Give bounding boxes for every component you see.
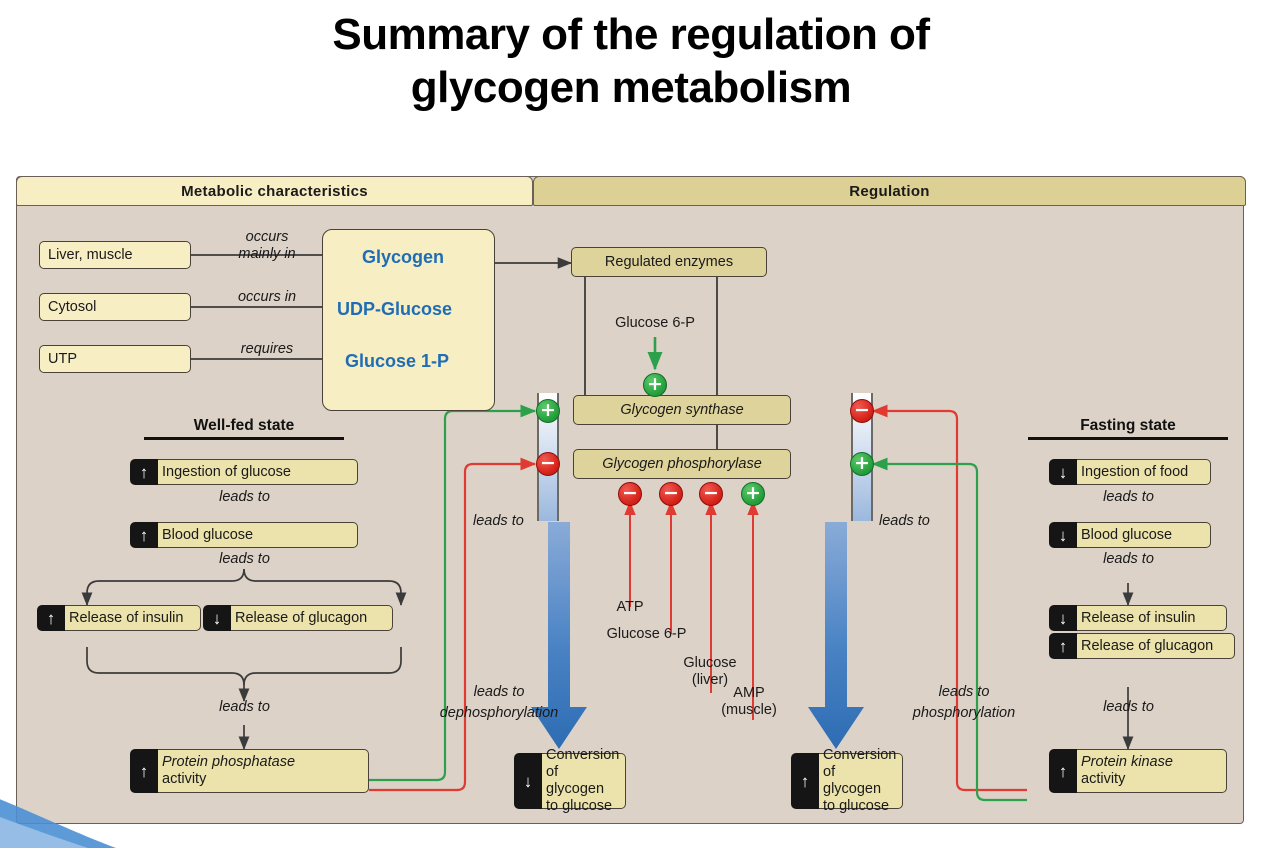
relation-label-requires: requires xyxy=(212,341,322,358)
well-fed-heading-label: Well-fed state xyxy=(194,417,295,434)
up-arrow-icon: ↑ xyxy=(130,522,158,548)
down-arrow-icon: ↓ xyxy=(1049,459,1077,485)
well-fed-final-line-2: activity xyxy=(162,771,362,788)
fasting-final-protein-kinase[interactable]: ↑ Protein kinase activity xyxy=(1049,749,1227,793)
chip-arrow-glyph: ↓ xyxy=(1059,610,1068,627)
enzyme-glycogen-synthase[interactable]: Glycogen synthase xyxy=(573,395,791,425)
regulated-enzymes-label: Regulated enzymes xyxy=(605,254,733,270)
cycle-node-glucose-1-p: Glucose 1-P xyxy=(345,351,449,372)
well-fed-branch-0-text: Release of insulin xyxy=(69,610,194,626)
well-fed-branch-release-of-insulin[interactable]: ↑ Release of insulin xyxy=(37,605,201,631)
fasting-heading-rule xyxy=(1028,437,1228,440)
well-fed-leads-to-1: leads to xyxy=(167,489,322,506)
outcome-box-right-conversion[interactable]: ↑ Conversion of glycogen to glucose xyxy=(791,753,903,809)
up-arrow-icon: ↑ xyxy=(37,605,65,631)
outcome-left-line-1: Conversion xyxy=(546,747,619,764)
badge-sign: + xyxy=(540,401,556,420)
down-arrow-icon: ↓ xyxy=(1049,522,1077,548)
allosteric-minus-badge-glucose-liver: − xyxy=(699,482,723,506)
allosteric-plus-badge-amp-muscle: + xyxy=(741,482,765,506)
fasting-state-heading: Fasting state xyxy=(1028,417,1228,440)
up-arrow-icon: ↑ xyxy=(1049,749,1077,793)
well-fed-heading-rule xyxy=(144,437,344,440)
fasting-pair-0-text: Release of insulin xyxy=(1081,610,1220,626)
tab-regulation[interactable]: Regulation xyxy=(533,176,1246,206)
relation-label-occurs-mainly-in: occurs mainly in xyxy=(212,229,322,263)
center-leads-to-right: leads to xyxy=(879,513,930,530)
up-arrow-icon: ↑ xyxy=(130,459,158,485)
fasting-pair-label: Release of insulin xyxy=(1074,605,1227,631)
down-arrow-icon: ↓ xyxy=(1049,605,1077,631)
up-arrow-icon: ↑ xyxy=(130,749,158,793)
outcome-right-line-2: of glycogen xyxy=(823,764,896,798)
badge-sign: + xyxy=(745,484,761,503)
metabolic-target-liver-muscle[interactable]: Liver, muscle xyxy=(39,241,191,269)
allosteric-minus-badge-glucose-6-p: − xyxy=(659,482,683,506)
fasting-final-text: Protein kinase activity xyxy=(1074,749,1227,793)
chip-arrow-glyph: ↓ xyxy=(1059,464,1068,481)
well-fed-branch-release-of-glucagon[interactable]: ↓ Release of glucagon xyxy=(203,605,393,631)
chip-arrow-glyph: ↑ xyxy=(140,527,149,544)
fasting-step-0-text: Ingestion of food xyxy=(1081,464,1204,480)
fasting-step-blood-glucose[interactable]: ↓ Blood glucose xyxy=(1049,522,1211,548)
outcome-right-line-3: to glucose xyxy=(823,798,896,815)
page-title: Summary of the regulation of glycogen me… xyxy=(0,8,1262,114)
down-arrow-icon: ↓ xyxy=(203,605,231,631)
tab-metabolic-label: Metabolic characteristics xyxy=(181,183,368,200)
chip-arrow-glyph: ↑ xyxy=(47,610,56,627)
metabolic-target-cytosol[interactable]: Cytosol xyxy=(39,293,191,321)
tab-metabolic-characteristics[interactable]: Metabolic characteristics xyxy=(16,176,533,206)
well-fed-branch-label: Release of insulin xyxy=(62,605,201,631)
well-fed-step-label: Blood glucose xyxy=(155,522,358,548)
well-fed-final-protein-phosphatase[interactable]: ↑ Protein phosphatase activity xyxy=(130,749,369,793)
metabolic-target-utp-label: UTP xyxy=(48,351,77,367)
allosteric-label-glucose-liver: Glucose(liver) xyxy=(650,655,770,689)
chip-arrow-glyph: ↑ xyxy=(140,763,149,780)
well-fed-step-1-text: Blood glucose xyxy=(162,527,351,543)
up-arrow-icon: ↑ xyxy=(1049,633,1077,659)
badge-sign: − xyxy=(622,484,638,503)
chip-arrow-glyph: ↓ xyxy=(213,610,222,627)
decorative-swoosh xyxy=(0,790,212,850)
title-line-1: Summary of the regulation of xyxy=(0,8,1262,61)
left-stripe-plus-badge: + xyxy=(536,399,560,423)
tab-regulation-label: Regulation xyxy=(849,183,930,200)
outcome-box-left-text: Conversion of glycogen to glucose xyxy=(539,753,626,809)
chip-arrow-glyph: ↑ xyxy=(140,464,149,481)
chip-arrow-glyph: ↑ xyxy=(1059,763,1068,780)
outcome-box-right-text: Conversion of glycogen to glucose xyxy=(816,753,903,809)
center-leads-to-left: leads to xyxy=(473,513,524,530)
connector-caption-phosphorylation: leads tophosphorylation xyxy=(879,682,1049,724)
fasting-step-label: Ingestion of food xyxy=(1074,459,1211,485)
right-stripe-plus-badge: + xyxy=(850,452,874,476)
allosteric-minus-badge-atp: − xyxy=(618,482,642,506)
regulated-enzymes-box[interactable]: Regulated enzymes xyxy=(571,247,767,277)
allosteric-label-atp: ATP xyxy=(585,599,675,616)
badge-sign: + xyxy=(647,375,663,394)
well-fed-leads-to-2: leads to xyxy=(167,551,322,568)
fasting-final-line-2: activity xyxy=(1081,771,1220,788)
outcome-right-line-1: Conversion xyxy=(823,747,896,764)
badge-sign: + xyxy=(854,454,870,473)
allosteric-activator-glucose-6-p-label: Glucose 6-P xyxy=(595,315,715,332)
cycle-node-glycogen: Glycogen xyxy=(362,247,444,268)
well-fed-step-0-text: Ingestion of glucose xyxy=(162,464,351,480)
fasting-pair-1-text: Release of glucagon xyxy=(1081,638,1228,654)
badge-sign: − xyxy=(663,484,679,503)
outcome-box-left-conversion[interactable]: ↓ Conversion of glycogen to glucose xyxy=(514,753,626,809)
right-stripe-minus-badge: − xyxy=(850,399,874,423)
up-arrow-icon: ↑ xyxy=(791,753,819,809)
metabolic-target-cytosol-label: Cytosol xyxy=(48,299,96,315)
slide-canvas: Summary of the regulation of glycogen me… xyxy=(0,0,1262,840)
allosteric-label-glucose-6-p: Glucose 6-P xyxy=(579,626,714,643)
fasting-pair-release-of-insulin[interactable]: ↓ Release of insulin xyxy=(1049,605,1227,631)
well-fed-final-line-1: Protein phosphatase xyxy=(162,754,362,771)
well-fed-step-blood-glucose[interactable]: ↑ Blood glucose xyxy=(130,522,358,548)
cycle-node-udp-glucose: UDP-Glucose xyxy=(337,299,452,320)
title-line-2: glycogen metabolism xyxy=(0,61,1262,114)
connector-caption-dephosphorylation: leads todephosphorylation xyxy=(409,682,589,724)
fasting-final-line-1: Protein kinase xyxy=(1081,754,1220,771)
fasting-step-label: Blood glucose xyxy=(1074,522,1211,548)
chip-arrow-glyph: ↓ xyxy=(1059,527,1068,544)
chip-arrow-glyph: ↓ xyxy=(524,773,533,790)
metabolic-target-utp[interactable]: UTP xyxy=(39,345,191,373)
enzyme-glycogen-phosphorylase[interactable]: Glycogen phosphorylase xyxy=(573,449,791,479)
badge-sign: − xyxy=(540,454,556,473)
enzyme-glycogen-synthase-label: Glycogen synthase xyxy=(620,402,743,418)
well-fed-branch-1-text: Release of glucagon xyxy=(235,610,386,626)
fasting-leads-to-3: leads to xyxy=(1051,699,1206,716)
well-fed-step-label: Ingestion of glucose xyxy=(155,459,358,485)
outcome-left-line-3: to glucose xyxy=(546,798,619,815)
fasting-step-1-text: Blood glucose xyxy=(1081,527,1204,543)
relation-label-occurs-in: occurs in xyxy=(212,289,322,306)
fasting-heading-label: Fasting state xyxy=(1080,417,1176,434)
well-fed-step-ingestion-of-glucose[interactable]: ↑ Ingestion of glucose xyxy=(130,459,358,485)
badge-sign: − xyxy=(854,401,870,420)
well-fed-leads-to-3: leads to xyxy=(167,699,322,716)
well-fed-final-text: Protein phosphatase activity xyxy=(155,749,369,793)
fasting-leads-to-2: leads to xyxy=(1051,551,1206,568)
well-fed-state-heading: Well-fed state xyxy=(144,417,344,440)
allosteric-plus-badge-glucose-6-p: + xyxy=(643,373,667,397)
fasting-pair-label: Release of glucagon xyxy=(1074,633,1235,659)
enzyme-glycogen-phosphorylase-label: Glycogen phosphorylase xyxy=(602,456,762,472)
outcome-left-line-2: of glycogen xyxy=(546,764,619,798)
fasting-pair-release-of-glucagon[interactable]: ↑ Release of glucagon xyxy=(1049,633,1235,659)
fasting-leads-to-1: leads to xyxy=(1051,489,1206,506)
figure-panel: Metabolic characteristics Regulation Liv… xyxy=(16,176,1244,824)
allosteric-label-amp-muscle: AMP(muscle) xyxy=(689,685,809,719)
metabolic-target-liver-muscle-label: Liver, muscle xyxy=(48,247,133,263)
chip-arrow-glyph: ↑ xyxy=(1059,638,1068,655)
fasting-step-ingestion-of-food[interactable]: ↓ Ingestion of food xyxy=(1049,459,1211,485)
badge-sign: − xyxy=(703,484,719,503)
chip-arrow-glyph: ↑ xyxy=(801,773,810,790)
well-fed-branch-label: Release of glucagon xyxy=(228,605,393,631)
left-stripe-minus-badge: − xyxy=(536,452,560,476)
down-arrow-icon: ↓ xyxy=(514,753,542,809)
